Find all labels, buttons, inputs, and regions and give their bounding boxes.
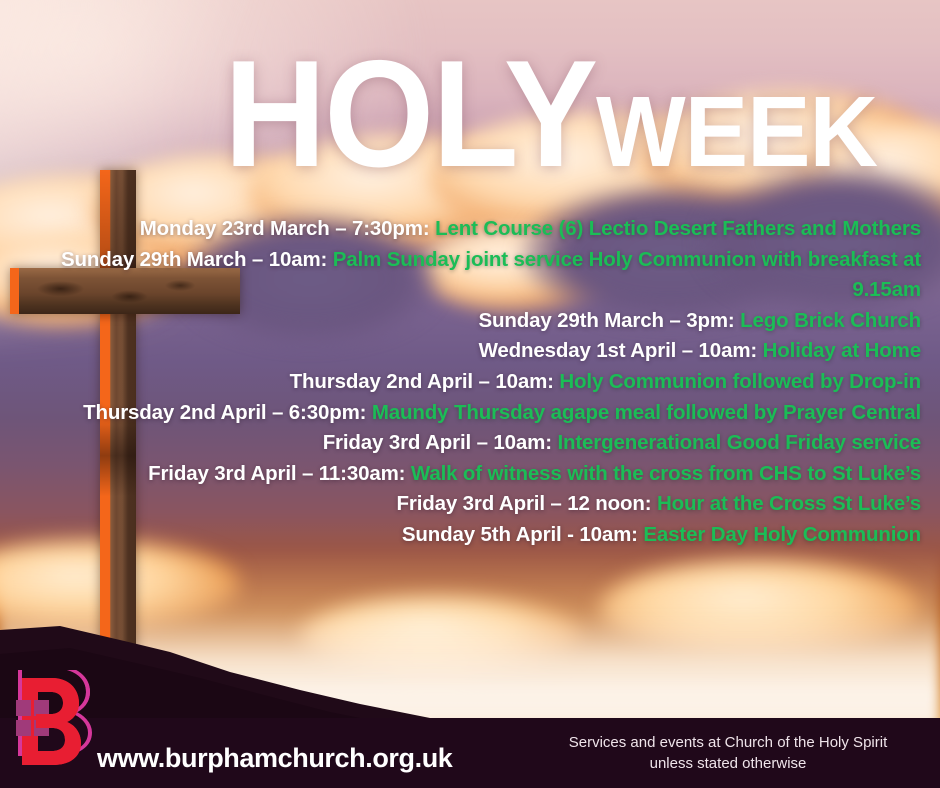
event-when: Friday 3rd April – 12 noon: [397,492,652,515]
title-holy: HOLY [224,38,596,190]
event-item: Sunday 5th April - 10am: Easter Day Holy… [40,520,921,551]
event-when: Friday 3rd April – 11:30am [148,462,399,485]
footer-note: Services and events at Church of the Hol… [538,732,918,774]
event-when: Thursday 2nd April – 6:30pm: [83,401,366,424]
event-what: Maundy Thursday agape meal followed by P… [372,401,921,424]
footer-note-line1: Services and events at Church of the Hol… [538,732,918,753]
event-separator: : [728,309,735,332]
event-when: Sunday 29th March – 3pm [478,309,727,332]
event-item: Friday 3rd April – 10am: Intergeneration… [40,428,921,459]
poster-title: HOLYWEEK [0,38,940,190]
event-when: Sunday 5th April - 10am: [402,523,638,546]
event-separator: : [321,248,328,271]
event-what: Holiday at Home [763,339,921,362]
website-url[interactable]: www.burphamchurch.org.uk [97,743,452,774]
event-what: Lent Course (6) Lectio Desert Fathers an… [435,217,921,240]
event-list: Monday 23rd March – 7:30pm: Lent Course … [40,214,921,551]
event-what: Hour at the Cross St Luke’s [657,492,921,515]
event-item: Wednesday 1st April – 10am: Holiday at H… [40,336,921,367]
event-separator: : [399,462,406,485]
event-item: Sunday 29th March – 3pm: Lego Brick Chur… [40,306,921,337]
event-item: Sunday 29th March – 10am: Palm Sunday jo… [40,245,921,306]
holy-week-poster: HOLYWEEK Monday 23rd March – 7:30pm: Len… [0,0,940,788]
event-item: Thursday 2nd April – 6:30pm: Maundy Thur… [40,398,921,429]
event-what: Palm Sunday joint service Holy Communion… [333,248,921,302]
event-what: Easter Day Holy Communion [643,523,921,546]
event-item: Thursday 2nd April – 10am: Holy Communio… [40,367,921,398]
event-when: Friday 3rd April – 10am: [323,431,552,454]
event-what: Holy Communion followed by Drop-in [559,370,921,393]
event-item: Friday 3rd April – 12 noon: Hour at the … [40,489,921,520]
event-item: Monday 23rd March – 7:30pm: Lent Course … [40,214,921,245]
event-what: Walk of witness with the cross from CHS … [411,462,921,485]
event-what: Intergenerational Good Friday service [557,431,921,454]
event-what: Lego Brick Church [740,309,921,332]
title-week: WEEK [596,82,877,182]
event-when: Thursday 2nd April – 10am: [290,370,554,393]
event-when: Wednesday 1st April – 10am: [479,339,758,362]
event-item: Friday 3rd April – 11:30am: Walk of witn… [40,459,921,490]
footer-note-line2: unless stated otherwise [538,753,918,774]
event-when: Sunday 29th March – 10am [61,248,321,271]
event-when: Monday 23rd March – 7:30pm: [140,217,430,240]
burpham-church-logo-icon[interactable] [12,670,94,766]
